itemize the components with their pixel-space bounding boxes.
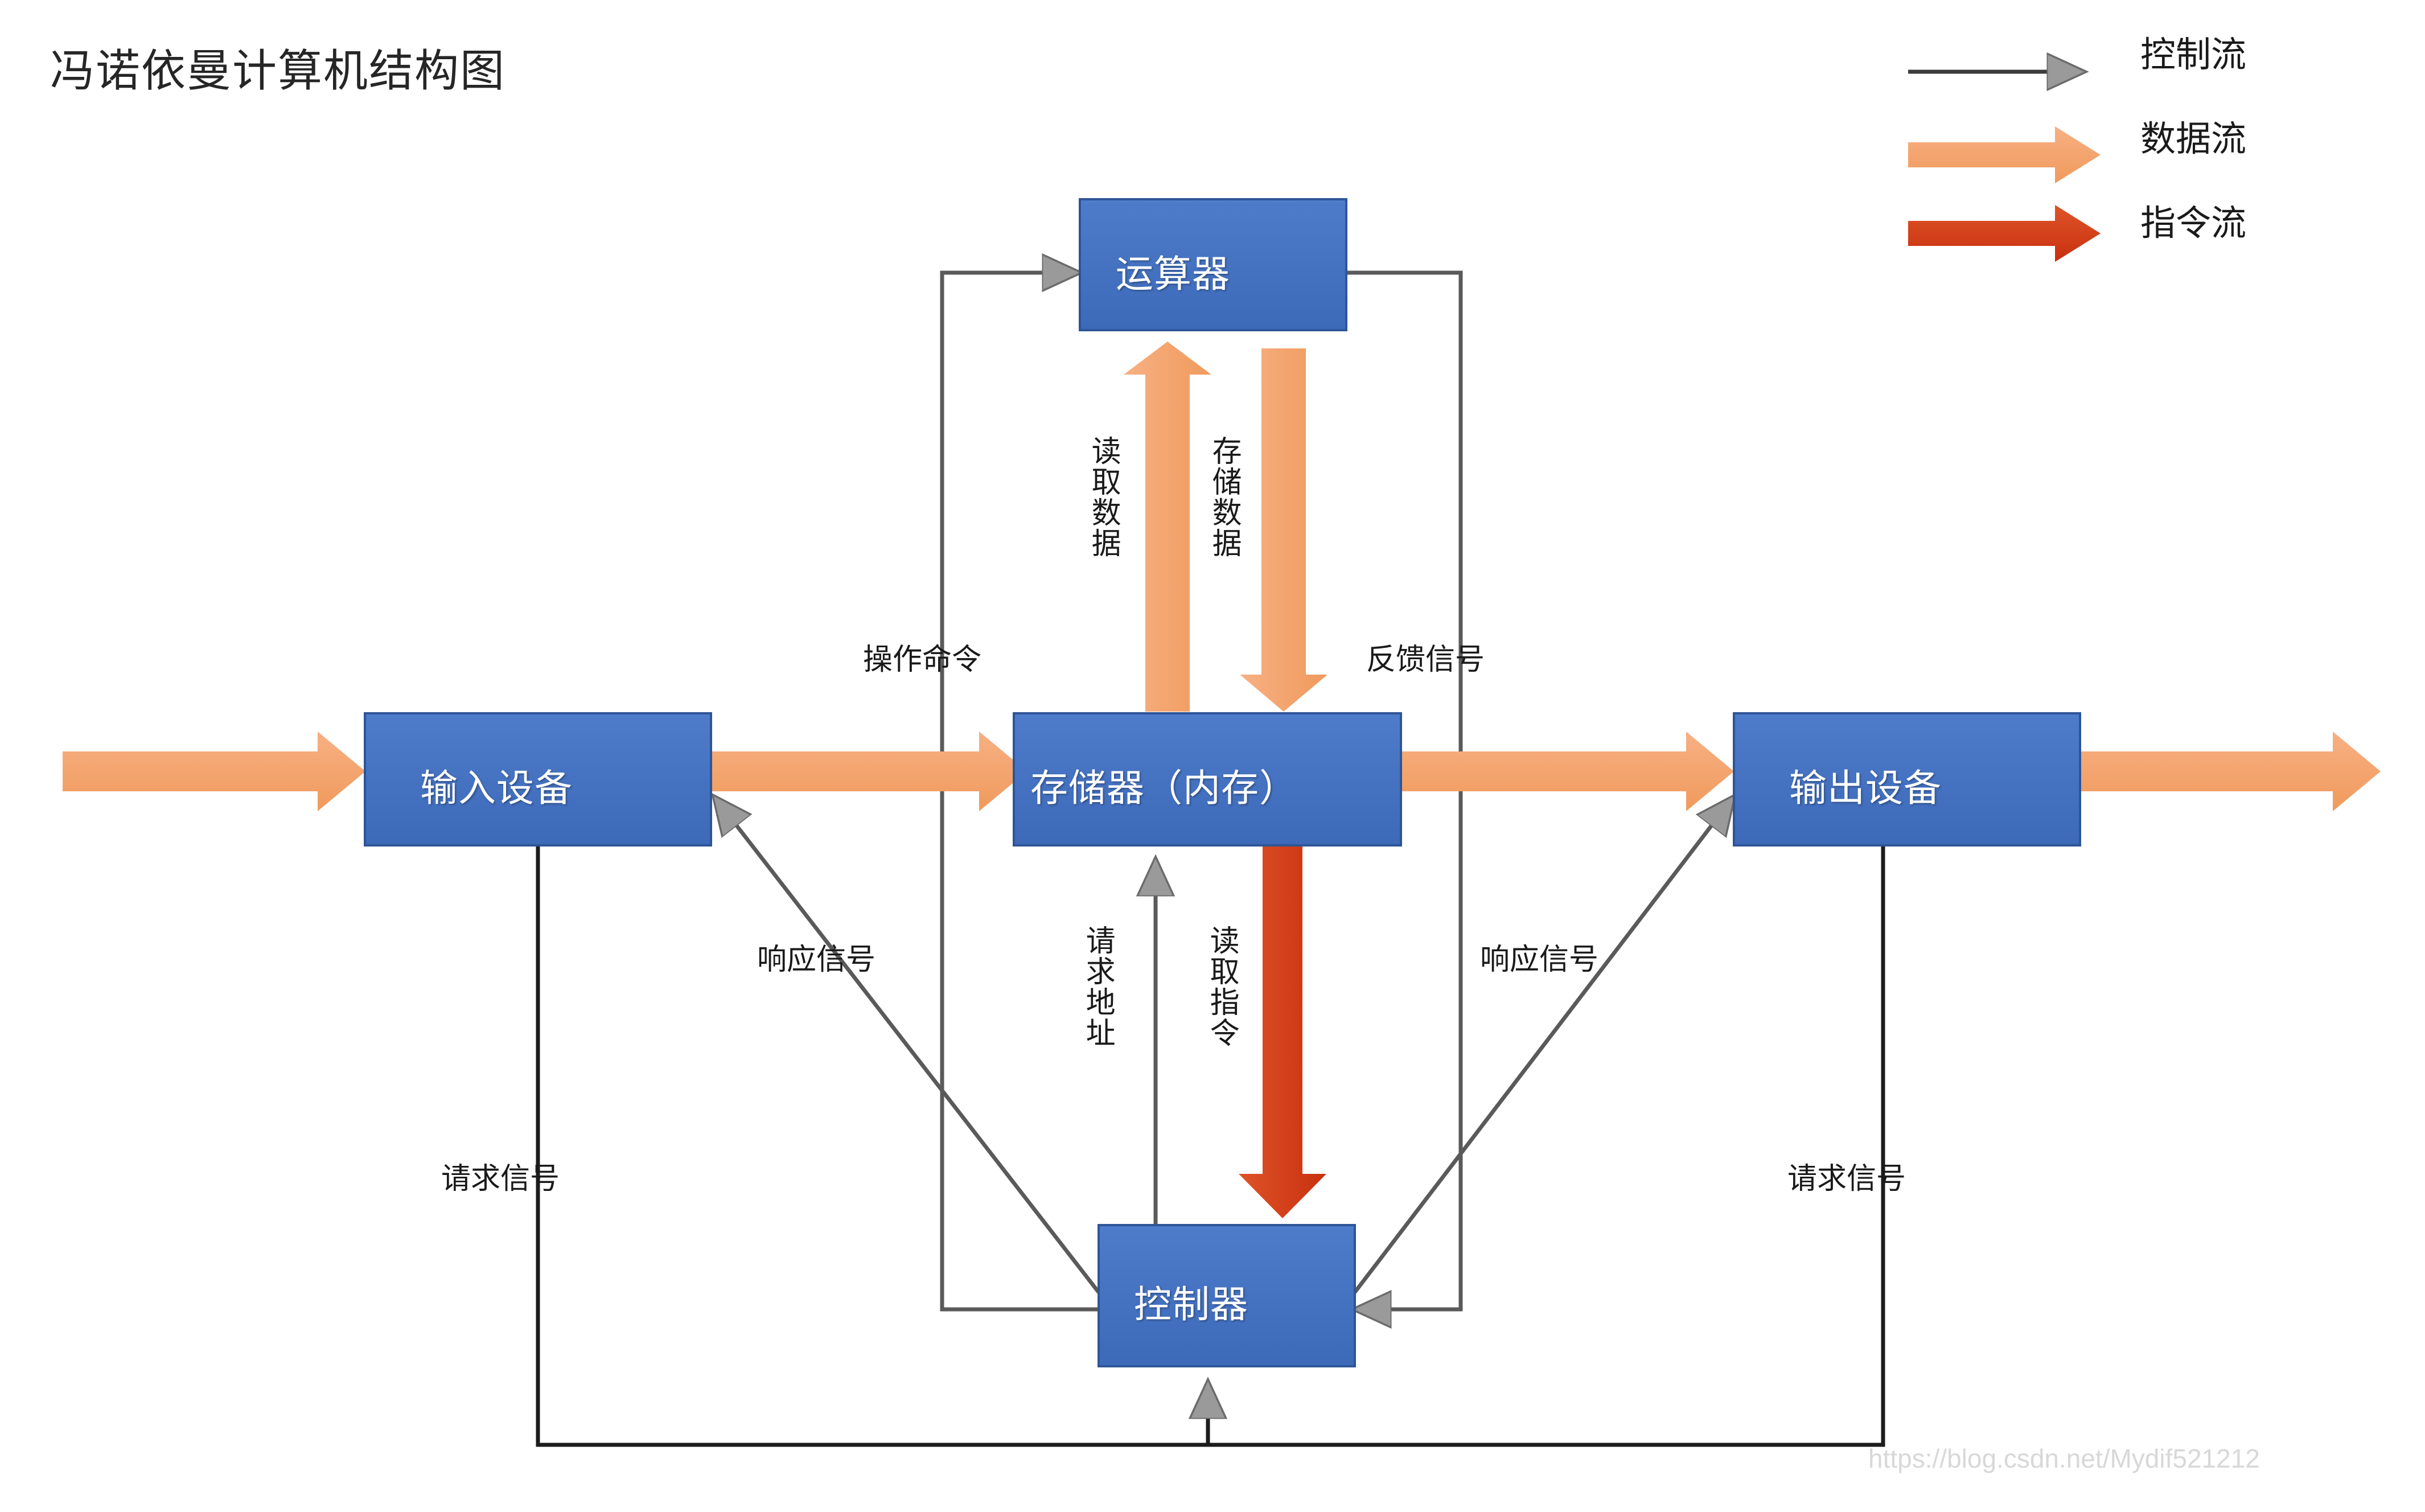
legend-item-instruction-flow: 指令流 [1901, 200, 2402, 286]
arrow-output-to-external-data [2049, 732, 2381, 811]
edge-label-feedback-signal: 反馈信号 [1366, 645, 1485, 675]
edge-label-request-signal-right: 请求信号 [1787, 1164, 1906, 1194]
edge-response-signal-left [714, 797, 1099, 1292]
diagram-canvas: 冯诺依曼计算机结构图 [0, 0, 2425, 1512]
edge-label-fetch-instruction: 读取指令 [1206, 925, 1237, 1048]
legend-label-instruction-flow: 指令流 [2140, 206, 2246, 241]
node-box-output[interactable] [1734, 713, 2080, 845]
arrow-input-to-memory [712, 732, 1027, 811]
legend-label-control-flow: 控制流 [2140, 38, 2246, 73]
arrow-store-data [1240, 348, 1327, 712]
legend-item-control-flow: 控制流 [1901, 30, 2402, 115]
legend: 控制流 数据流 指令流 [1901, 30, 2402, 286]
node-box-alu[interactable] [1080, 199, 1346, 330]
node-box-controller[interactable] [1099, 1225, 1355, 1366]
edge-label-store-data: 存储数据 [1208, 435, 1239, 558]
node-box-memory[interactable] [1014, 713, 1401, 845]
watermark: https://blog.csdn.net/Mydif521212 [1868, 1443, 2260, 1474]
edge-label-response-signal-left: 响应信号 [757, 945, 876, 975]
edge-label-operation-command: 操作命令 [863, 645, 981, 675]
edge-label-request-address: 请求地址 [1082, 925, 1113, 1048]
instruction-flow-edges [1239, 836, 1326, 1218]
edge-label-response-signal-right: 响应信号 [1480, 945, 1598, 975]
arrow-external-input-data [63, 732, 365, 811]
node-box-input[interactable] [365, 713, 711, 845]
arrow-fetch-instruction [1239, 836, 1326, 1218]
arrow-memory-to-output [1389, 732, 1734, 811]
edge-response-signal-right [1355, 797, 1733, 1292]
edge-label-request-signal-left: 请求信号 [441, 1164, 560, 1194]
legend-label-data-flow: 数据流 [2140, 122, 2246, 157]
legend-item-data-flow: 数据流 [1901, 115, 2402, 200]
arrow-read-data [1124, 342, 1211, 712]
edge-label-read-data: 读取数据 [1087, 435, 1119, 558]
